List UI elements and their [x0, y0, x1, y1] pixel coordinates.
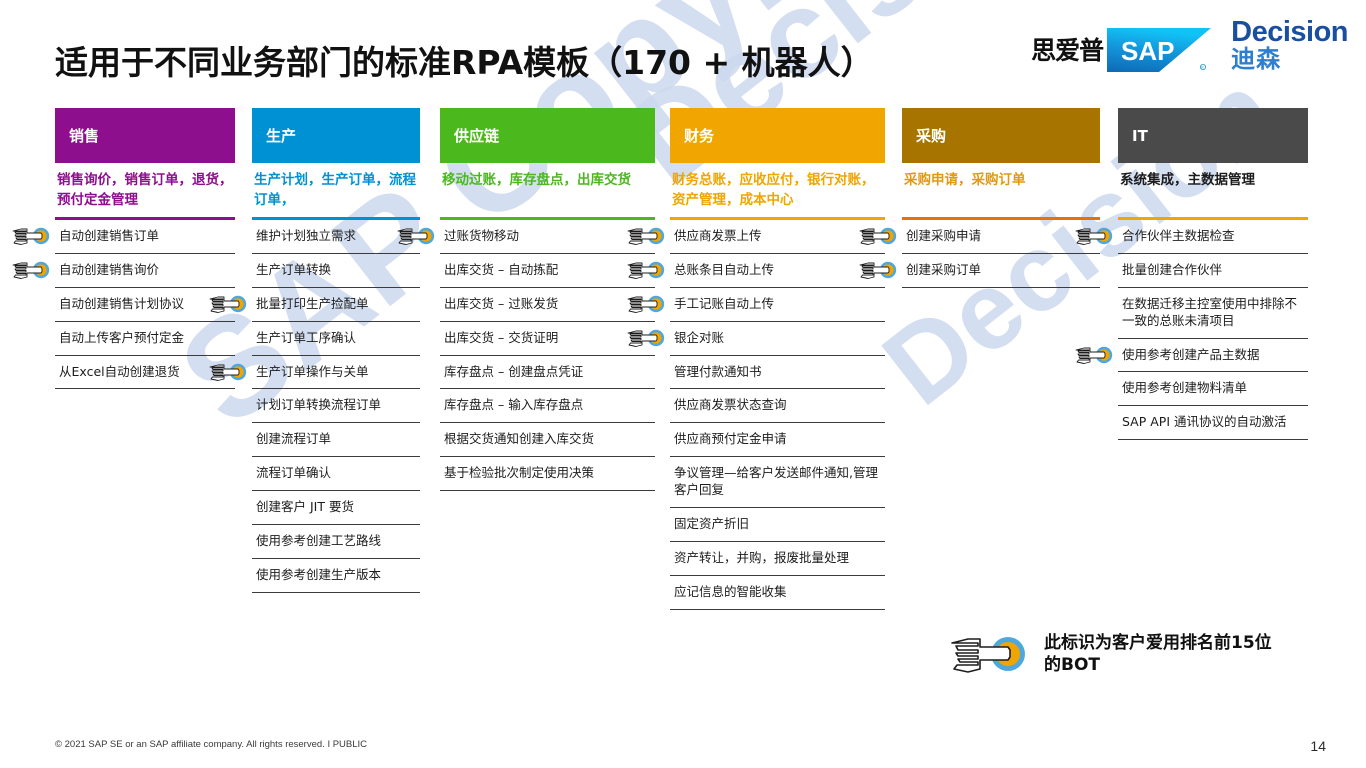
legend: 此标识为客户爱用排名前15位的BOT	[948, 632, 1284, 676]
bot-hand-icon	[948, 632, 1028, 676]
bot-row-label: 基于检验批次制定使用决策	[444, 465, 594, 482]
bot-row-label: 管理付款通知书	[674, 364, 762, 381]
page-title: 适用于不同业务部门的标准RPA模板（170 + 机器人）	[55, 36, 874, 84]
bot-row[interactable]: 创建采购订单	[902, 254, 1100, 288]
bot-row[interactable]: 使用参考创建生产版本	[252, 559, 420, 593]
column-rows-production: 维护计划独立需求生产订单转换 批量打印生产捡配单生产订单工序确认 生产订单操作与…	[252, 220, 420, 593]
bot-row-label: 计划订单转换流程订单	[256, 397, 381, 414]
column-header-label: 财务	[684, 125, 714, 146]
column-header-finance: 财务	[670, 108, 885, 163]
column-subtitle-sales: 销售询价，销售订单，退货，预付定金管理	[55, 171, 235, 217]
column-header-sales: 销售	[55, 108, 235, 163]
bot-hand-icon	[1074, 226, 1114, 246]
sap-chinese-name: 思爱普	[1031, 31, 1103, 67]
bot-row[interactable]: 创建客户 JIT 要货	[252, 491, 420, 525]
bot-row[interactable]: 供应商预付定金申请	[670, 423, 885, 457]
bot-row[interactable]: 总账条目自动上传	[670, 254, 885, 288]
column-header-label: 生产	[266, 125, 296, 146]
bot-row-label: 合作伙伴主数据检查	[1122, 228, 1235, 245]
bot-row-label: 自动创建销售订单	[59, 228, 159, 245]
bot-row-label: 流程订单确认	[256, 465, 331, 482]
column-supply_chain: 供应链移动过账，库存盘点，出库交货 过账货物移动出库交货 – 自动拣配出库交货 …	[440, 108, 655, 491]
sap-logo-mark: SAP R	[1107, 26, 1217, 72]
column-subtitle-it: 系统集成，主数据管理	[1118, 171, 1308, 217]
column-header-label: IT	[1132, 127, 1148, 145]
bot-row[interactable]: 根据交货通知创建入库交货	[440, 423, 655, 457]
bot-row-label: 根据交货通知创建入库交货	[444, 431, 594, 448]
column-rows-procurement: 创建采购申请 创建采购订单	[902, 220, 1100, 288]
bot-row[interactable]: 使用参考创建物料清单	[1118, 372, 1308, 406]
column-header-procurement: 采购	[902, 108, 1100, 163]
bot-row[interactable]: 出库交货 – 自动拣配	[440, 254, 655, 288]
bot-row-label: 生产订单转换	[256, 262, 331, 279]
bot-row-label: 使用参考创建工艺路线	[256, 533, 381, 550]
bot-row-label: 资产转让，并购，报废批量处理	[674, 550, 849, 567]
bot-row[interactable]: SAP API 通讯协议的自动激活	[1118, 406, 1308, 440]
column-production: 生产生产计划，生产订单，流程订单，维护计划独立需求生产订单转换 批量打印生产捡配…	[252, 108, 420, 593]
bot-row[interactable]: 使用参考创建产品主数据	[1118, 339, 1308, 373]
bot-row[interactable]: 管理付款通知书	[670, 356, 885, 390]
bot-row[interactable]: 创建流程订单	[252, 423, 420, 457]
page-number: 14	[1310, 738, 1326, 754]
bot-row[interactable]: 库存盘点 – 创建盘点凭证	[440, 356, 655, 390]
column-subtitle-finance: 财务总账，应收应付，银行对账，资产管理，成本中心	[670, 171, 885, 217]
bot-row[interactable]: 流程订单确认	[252, 457, 420, 491]
bot-row[interactable]: 自动上传客户预付定金	[55, 322, 235, 356]
column-finance: 财务财务总账，应收应付，银行对账，资产管理，成本中心 供应商发票上传 总账条目自…	[670, 108, 885, 610]
bot-row[interactable]: 基于检验批次制定使用决策	[440, 457, 655, 491]
bot-row-label: 使用参考创建物料清单	[1122, 380, 1247, 397]
bot-hand-icon	[208, 362, 248, 382]
bot-row[interactable]: 自动创建销售询价	[55, 254, 235, 288]
logo-group: 思爱普 SAP R Decision 迪森	[1031, 14, 1348, 72]
bot-row-label: SAP API 通讯协议的自动激活	[1122, 414, 1286, 431]
column-header-label: 采购	[916, 125, 946, 146]
bot-row[interactable]: 计划订单转换流程订单	[252, 389, 420, 423]
bot-hand-icon	[626, 226, 666, 246]
column-sales: 销售销售询价，销售订单，退货，预付定金管理 自动创建销售订单 自动创建销售询价自…	[55, 108, 235, 389]
bot-row-label: 维护计划独立需求	[256, 228, 356, 245]
column-rows-finance: 供应商发票上传 总账条目自动上传 手工记账自动上传 银企对账管理付款通知书供应商…	[670, 220, 885, 610]
bot-row-label: 生产订单工序确认	[256, 330, 356, 347]
decision-logo-en: Decision	[1231, 18, 1348, 47]
bot-row-label: 争议管理—给客户发送邮件通知,管理客户回复	[674, 465, 881, 499]
bot-row-label: 使用参考创建生产版本	[256, 567, 381, 584]
bot-row[interactable]: 批量打印生产捡配单	[252, 288, 420, 322]
bot-row-label: 在数据迁移主控室使用中排除不一致的总账未清项目	[1122, 296, 1304, 330]
column-header-label: 供应链	[454, 125, 499, 146]
bot-row-label: 出库交货 – 自动拣配	[444, 262, 558, 279]
bot-row[interactable]: 生产订单操作与关单	[252, 356, 420, 390]
bot-row[interactable]: 应记信息的智能收集	[670, 576, 885, 610]
column-subtitle-procurement: 采购申请，采购订单	[902, 171, 1100, 217]
bot-hand-icon	[858, 260, 898, 280]
bot-row-label: 自动创建销售询价	[59, 262, 159, 279]
column-rows-supply_chain: 过账货物移动出库交货 – 自动拣配出库交货 – 过账发货出库交货 – 交货证明库…	[440, 220, 655, 491]
bot-row-label: 创建采购订单	[906, 262, 981, 279]
bot-hand-icon	[11, 260, 51, 280]
bot-row-label: 过账货物移动	[444, 228, 519, 245]
bot-row[interactable]: 争议管理—给客户发送邮件通知,管理客户回复	[670, 457, 885, 508]
bot-row-label: 应记信息的智能收集	[674, 584, 787, 601]
column-rows-it: 合作伙伴主数据检查批量创建合作伙伴在数据迁移主控室使用中排除不一致的总账未清项目…	[1118, 220, 1308, 440]
bot-row[interactable]: 使用参考创建工艺路线	[252, 525, 420, 559]
bot-row-label: 创建客户 JIT 要货	[256, 499, 354, 516]
column-subtitle-supply_chain: 移动过账，库存盘点，出库交货	[440, 171, 655, 217]
bot-row-label: 总账条目自动上传	[674, 262, 774, 279]
bot-row[interactable]: 出库交货 – 过账发货	[440, 288, 655, 322]
column-subtitle-production: 生产计划，生产订单，流程订单，	[252, 171, 420, 217]
bot-row-label: 库存盘点 – 输入库存盘点	[444, 397, 583, 414]
column-it: IT系统集成，主数据管理 合作伙伴主数据检查批量创建合作伙伴在数据迁移主控室使用…	[1118, 108, 1308, 440]
legend-label: 此标识为客户爱用排名前15位的BOT	[1044, 632, 1284, 676]
bot-row[interactable]: 手工记账自动上传	[670, 288, 885, 322]
bot-row-label: 自动上传客户预付定金	[59, 330, 184, 347]
bot-row-label: 生产订单操作与关单	[256, 364, 369, 381]
bot-row[interactable]: 创建采购申请	[902, 220, 1100, 254]
bot-row[interactable]: 生产订单转换	[252, 254, 420, 288]
column-header-it: IT	[1118, 108, 1308, 163]
bot-row[interactable]: 批量创建合作伙伴	[1118, 254, 1308, 288]
bot-row[interactable]: 供应商发票状态查询	[670, 389, 885, 423]
bot-row-label: 手工记账自动上传	[674, 296, 774, 313]
bot-row[interactable]: 出库交货 – 交货证明	[440, 322, 655, 356]
bot-row-label: 银企对账	[674, 330, 724, 347]
decision-logo: Decision 迪森	[1231, 14, 1348, 71]
footer-copyright: © 2021 SAP SE or an SAP affiliate compan…	[55, 739, 367, 750]
bot-row[interactable]: 合作伙伴主数据检查	[1118, 220, 1308, 254]
bot-hand-icon	[858, 226, 898, 246]
sap-logo: 思爱普 SAP R	[1031, 14, 1217, 72]
bot-row[interactable]: 维护计划独立需求	[252, 220, 420, 254]
column-header-supply_chain: 供应链	[440, 108, 655, 163]
bot-row[interactable]: 过账货物移动	[440, 220, 655, 254]
bot-hand-icon	[1074, 345, 1114, 365]
bot-hand-icon	[11, 226, 51, 246]
bot-row-label: 批量打印生产捡配单	[256, 296, 369, 313]
column-header-production: 生产	[252, 108, 420, 163]
svg-text:R: R	[1201, 66, 1204, 70]
decision-logo-cn: 迪森	[1231, 47, 1348, 71]
bot-row-label: 供应商发票上传	[674, 228, 762, 245]
bot-hand-icon	[626, 294, 666, 314]
bot-row[interactable]: 生产订单工序确认	[252, 322, 420, 356]
column-header-label: 销售	[69, 125, 99, 146]
bot-hand-icon	[396, 226, 436, 246]
column-procurement: 采购采购申请，采购订单 创建采购申请 创建采购订单	[902, 108, 1100, 288]
bot-row[interactable]: 自动创建销售订单	[55, 220, 235, 254]
bot-row[interactable]: 银企对账	[670, 322, 885, 356]
bot-row-label: 供应商发票状态查询	[674, 397, 787, 414]
bot-hand-icon	[626, 328, 666, 348]
bot-row-label: 使用参考创建产品主数据	[1122, 347, 1260, 364]
svg-text:SAP: SAP	[1121, 36, 1174, 66]
bot-row-label: 出库交货 – 过账发货	[444, 296, 558, 313]
bot-hand-icon	[208, 294, 248, 314]
bot-row[interactable]: 在数据迁移主控室使用中排除不一致的总账未清项目	[1118, 288, 1308, 339]
bot-row-label: 批量创建合作伙伴	[1122, 262, 1222, 279]
bot-row-label: 从Excel自动创建退货	[59, 364, 180, 381]
bot-row[interactable]: 固定资产折旧	[670, 508, 885, 542]
bot-row-label: 供应商预付定金申请	[674, 431, 787, 448]
bot-row-label: 创建采购申请	[906, 228, 981, 245]
bot-row[interactable]: 资产转让，并购，报废批量处理	[670, 542, 885, 576]
bot-row-label: 固定资产折旧	[674, 516, 749, 533]
bot-row-label: 创建流程订单	[256, 431, 331, 448]
bot-row[interactable]: 库存盘点 – 输入库存盘点	[440, 389, 655, 423]
bot-row-label: 自动创建销售计划协议	[59, 296, 184, 313]
bot-row-label: 出库交货 – 交货证明	[444, 330, 558, 347]
bot-row-label: 库存盘点 – 创建盘点凭证	[444, 364, 583, 381]
bot-row[interactable]: 供应商发票上传	[670, 220, 885, 254]
bot-hand-icon	[626, 260, 666, 280]
